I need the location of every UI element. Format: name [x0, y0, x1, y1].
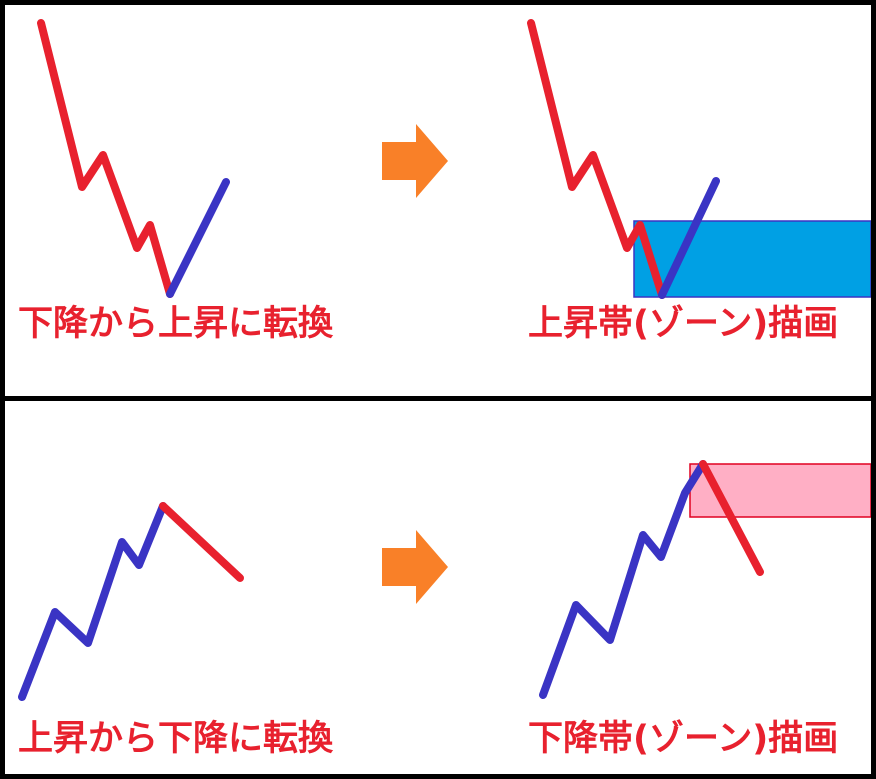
right-arrow-glyph [382, 124, 448, 198]
uptrend-blue-polyline [22, 506, 163, 697]
uptrend-blue-polyline [543, 464, 703, 695]
right-arrow-icon [382, 530, 448, 604]
uptrend-blue-polyline [170, 182, 226, 294]
caption-bullish-zone-drawn: 上昇帯(ゾーン)描画 [528, 307, 838, 342]
right-arrow-glyph [382, 530, 448, 604]
right-arrow-icon [382, 124, 448, 198]
diagram-canvas: 下降から上昇に転換 上昇帯(ゾーン)描画 上昇から下降に転換 下降帯(ゾーン)描… [0, 0, 876, 779]
downtrend-red-polyline [163, 506, 240, 578]
downtrend-red-polyline [41, 23, 170, 294]
caption-uptrend-to-downtrend: 上昇から下降に転換 [18, 722, 333, 757]
panel-divider [0, 396, 876, 401]
caption-downtrend-to-uptrend: 下降から上昇に転換 [18, 307, 333, 342]
caption-bearish-zone-drawn: 下降帯(ゾーン)描画 [528, 722, 838, 757]
